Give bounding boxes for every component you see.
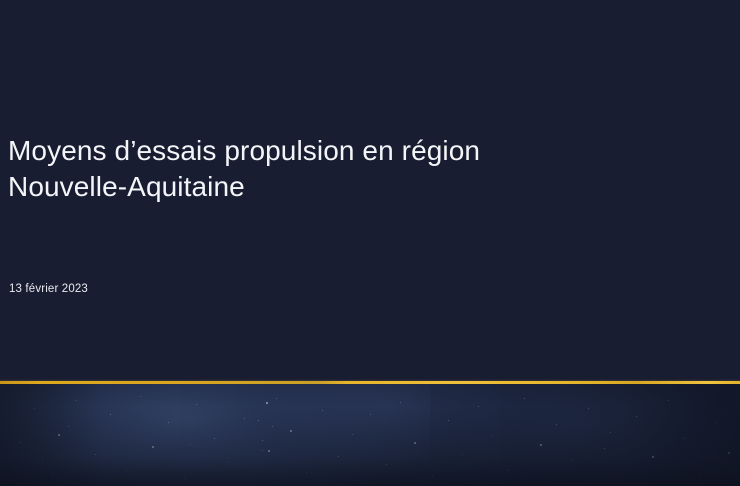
starfield-band [0,384,740,486]
slide-title: Moyens d’essais propulsion en région Nou… [8,133,648,205]
title-slide: Moyens d’essais propulsion en région Nou… [0,0,740,486]
slide-title-line-1: Moyens d’essais propulsion en région [8,133,648,169]
slide-title-line-2: Nouvelle-Aquitaine [8,169,648,205]
starfield-vignette [0,384,740,486]
slide-date: 13 février 2023 [9,282,88,297]
